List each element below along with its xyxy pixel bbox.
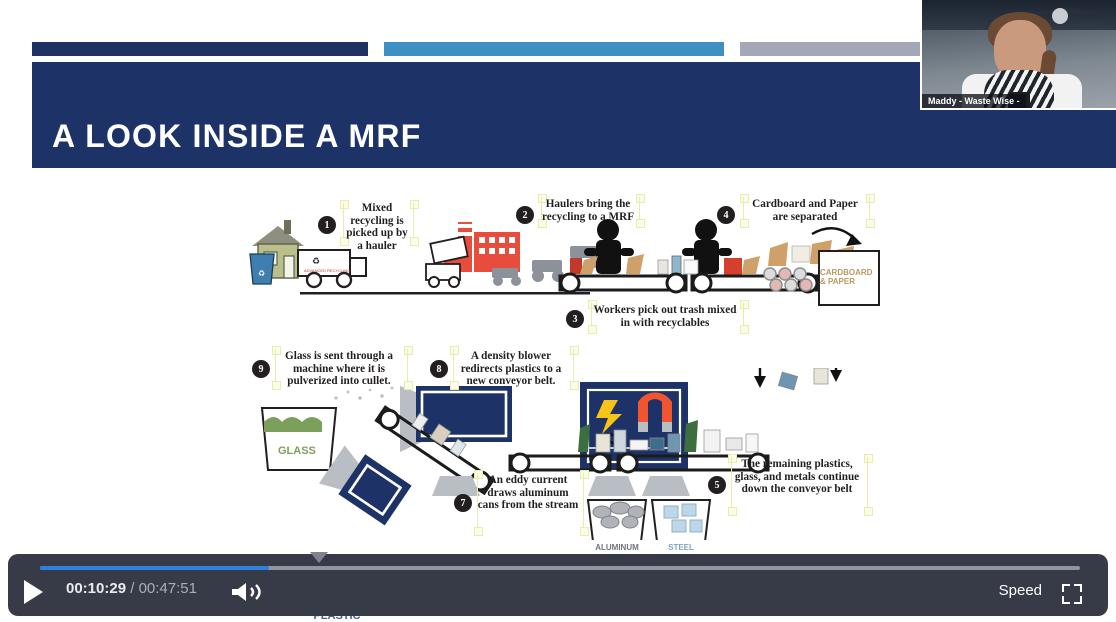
step-bracket-3b (740, 300, 747, 334)
step-caption-5: The remaining plastics, glass, and metal… (730, 458, 864, 496)
participant-name-label: Maddy - Waste Wise - (922, 94, 1026, 108)
seek-bar[interactable] (40, 566, 1080, 570)
play-icon[interactable] (24, 580, 43, 604)
svg-text:GLASS: GLASS (278, 445, 316, 457)
step-number-2: 2 (516, 206, 534, 224)
step-caption-8: A density blower redirects plastics to a… (452, 350, 570, 388)
scrub-position-caret (310, 552, 328, 563)
step-bracket-4b (866, 194, 873, 228)
volume-up-icon[interactable] (230, 580, 264, 604)
step-caption-3: Workers pick out trash mixed in with rec… (590, 304, 740, 329)
speed-button[interactable]: Speed (999, 582, 1042, 599)
current-time: 00:10:29 (66, 580, 126, 597)
video-player-stage: A LOOK INSIDE A MRF ♻ ♻ ADVANCED RECYCLI… (0, 0, 1116, 622)
step-bracket-1b (410, 200, 417, 246)
step-number-3: 3 (566, 310, 584, 328)
bin-label: CARDBOARD & PAPER (820, 268, 878, 286)
step-caption-4: Cardboard and Paper are separated (744, 198, 866, 223)
step-number-5: 5 (708, 476, 726, 494)
seek-bar-progress (40, 566, 269, 570)
step-caption-2: Haulers bring the recycling to a MRF (540, 198, 636, 223)
total-duration: 00:47:51 (139, 580, 197, 597)
time-separator: / (130, 580, 134, 597)
step-caption-9: Glass is sent through a machine where it… (274, 350, 404, 388)
step-number-1: 1 (318, 216, 336, 234)
step-bracket-7b (580, 470, 587, 536)
accent-bar-blue (384, 42, 724, 56)
mrf-process-infographic: ♻ ♻ ADVANCED RECYCLING (240, 188, 890, 608)
fullscreen-icon[interactable] (1062, 584, 1082, 604)
video-controls-bar: 00:10:29 / 00:47:51 Speed (8, 554, 1108, 616)
step-bracket-8b (570, 346, 577, 390)
step-bracket-9b (404, 346, 411, 390)
slide-accent-bars (32, 42, 932, 56)
step-bracket-5b (864, 454, 871, 516)
ceiling-fan-light-icon (1052, 8, 1068, 24)
svg-text:♻: ♻ (312, 256, 320, 266)
svg-text:♻: ♻ (258, 269, 265, 278)
bin-cardboard-paper: CARDBOARD & PAPER (818, 250, 880, 306)
time-display: 00:10:29 / 00:47:51 (66, 580, 197, 597)
accent-bar-gray (740, 42, 932, 56)
step-caption-1: Mixed recycling is picked up by a hauler (344, 202, 410, 252)
webcam-overlay[interactable]: Maddy - Waste Wise - (920, 0, 1116, 110)
step-number-8: 8 (430, 360, 448, 378)
step-caption-7: An eddy current draws aluminum cans from… (476, 474, 580, 512)
accent-bar-navy (32, 42, 368, 56)
step-number-9: 9 (252, 360, 270, 378)
step-number-7: 7 (454, 494, 472, 512)
controls-row: 00:10:29 / 00:47:51 Speed (8, 572, 1108, 616)
step-bracket-2b (636, 194, 643, 228)
step-number-4: 4 (717, 206, 735, 224)
page-title: A LOOK INSIDE A MRF (52, 118, 421, 155)
